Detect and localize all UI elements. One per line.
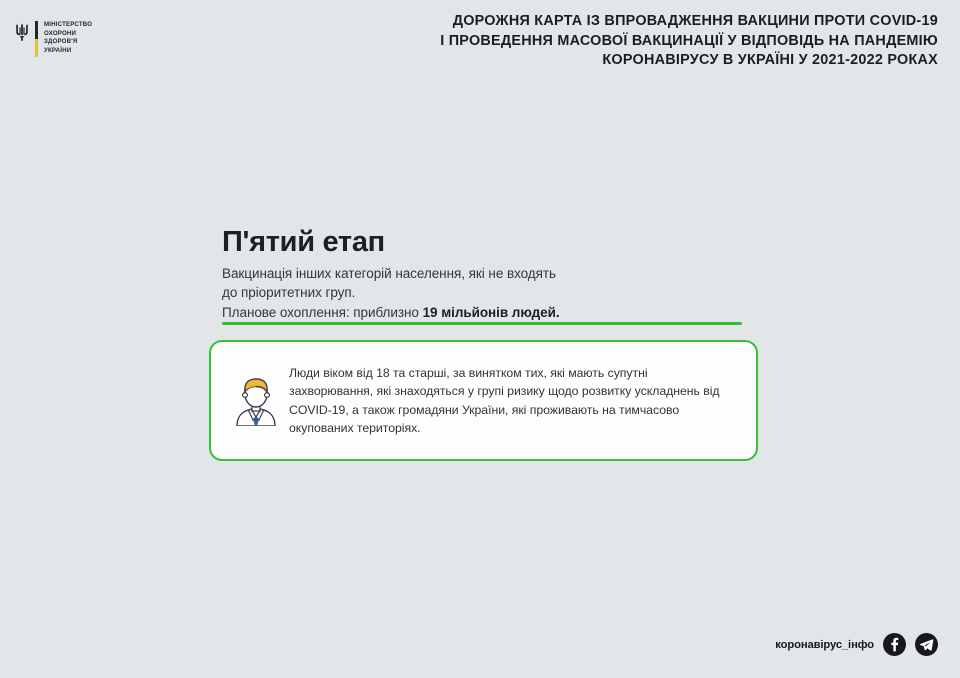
logo-line-1: МІНІСТЕРСТВО [44, 21, 92, 30]
ministry-logo: МІНІСТЕРСТВО ОХОРОНИ ЗДОРОВ'Я УКРАЇНИ [14, 21, 92, 57]
page-title-line-1: ДОРОЖНЯ КАРТА ІЗ ВПРОВАДЖЕННЯ ВАКЦИНИ ПР… [298, 12, 938, 32]
stage-description-line-1: Вакцинація інших категорій населення, як… [222, 264, 560, 283]
slide-root: МІНІСТЕРСТВО ОХОРОНИ ЗДОРОВ'Я УКРАЇНИ ДО… [0, 0, 960, 678]
person-avatar-icon [211, 376, 289, 426]
ukraine-trident-icon [14, 22, 29, 42]
target-group-text: Люди віком від 18 та старші, за винятком… [289, 364, 756, 437]
facebook-icon[interactable] [883, 633, 906, 656]
stage-description: Вакцинація інших категорій населення, як… [222, 264, 560, 322]
page-title: ДОРОЖНЯ КАРТА ІЗ ВПРОВАДЖЕННЯ ВАКЦИНИ ПР… [298, 12, 938, 71]
target-group-card: Люди віком від 18 та старші, за винятком… [209, 340, 758, 461]
stage-coverage-value: 19 мільйонів людей. [423, 305, 560, 320]
telegram-icon[interactable] [915, 633, 938, 656]
stage-coverage-prefix: Планове охоплення: приблизно [222, 305, 423, 320]
footer-handle-label: коронавірус_інфо [775, 639, 874, 651]
green-divider-rule [222, 322, 742, 325]
logo-line-3: ЗДОРОВ'Я [44, 38, 92, 47]
page-title-line-2: І ПРОВЕДЕННЯ МАСОВОЇ ВАКЦИНАЦІЇ У ВІДПОВ… [298, 32, 938, 52]
stage-coverage-line: Планове охоплення: приблизно 19 мільйоні… [222, 303, 560, 322]
stage-description-line-2: до пріоритетних груп. [222, 283, 560, 302]
page-title-line-3: КОРОНАВІРУСУ В УКРАЇНІ У 2021-2022 РОКАХ [298, 51, 938, 71]
stage-heading: П'ятий етап [222, 226, 385, 259]
logo-line-4: УКРАЇНИ [44, 47, 92, 56]
logo-text-block: МІНІСТЕРСТВО ОХОРОНИ ЗДОРОВ'Я УКРАЇНИ [44, 21, 92, 55]
footer-social-block: коронавірус_інфо [775, 633, 938, 656]
logo-divider-bar [35, 21, 38, 57]
logo-line-2: ОХОРОНИ [44, 30, 92, 39]
